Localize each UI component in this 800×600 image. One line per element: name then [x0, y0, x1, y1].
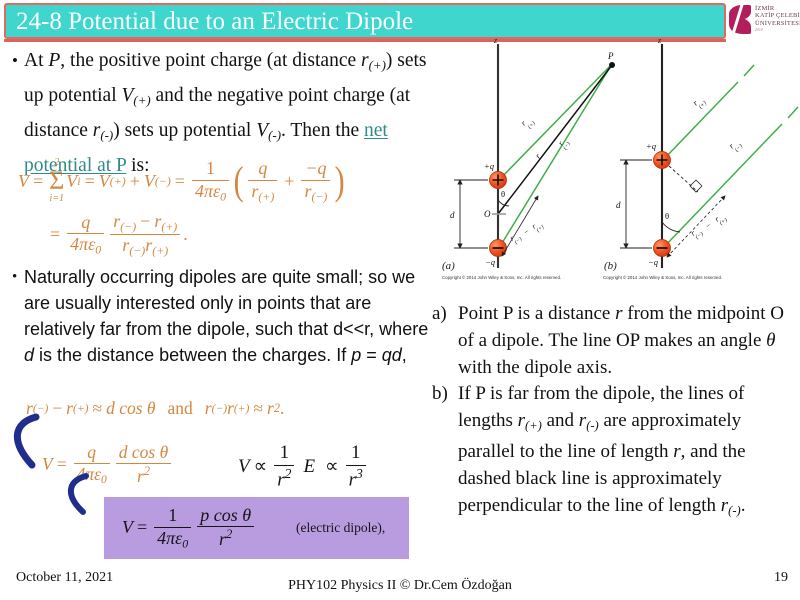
- prop-den-b: r3: [346, 467, 366, 491]
- svg-text:z: z: [657, 36, 662, 45]
- list-item-marker-a: a): [432, 301, 458, 381]
- eq2-f1-num: q: [78, 213, 93, 232]
- eq4-f2-num: d cos θ: [116, 443, 171, 462]
- eq1-equals-3: =: [171, 171, 189, 192]
- dip-f1-den: 4πε0: [154, 529, 191, 550]
- eq4-f1-den-sub: 0: [101, 474, 107, 486]
- eq3-rplus-sub: (+): [73, 403, 88, 415]
- list-item: b) If P is far from the dipole, the line…: [432, 381, 796, 524]
- eq1-f1-num: 1: [203, 159, 218, 178]
- eq3-period: .: [280, 398, 284, 419]
- ra-seg-c: with the dipole axis.: [458, 357, 612, 378]
- logo-line-3: ÜNİVERSİTESİ: [755, 20, 800, 27]
- equation-net-potential: V = 2 Σ i=1 Vi = V(+) + V(−) = 1 4πε0 ( …: [18, 158, 438, 204]
- b2-var-p: p: [351, 345, 361, 365]
- eq1-sigma-glyph: Σ: [49, 168, 64, 194]
- eq1-sigma-lower: i=1: [49, 194, 64, 204]
- logo-text-block: İZMİR KATİP ÇELEBİ ÜNİVERSİTESİ 2010: [755, 5, 800, 35]
- eq1-fraction-qrplus: q r(+): [248, 159, 277, 203]
- eq1-paren-close: ): [335, 167, 345, 196]
- eq4-f2-den-text: r: [137, 466, 144, 486]
- b1-var-P: P: [48, 50, 60, 71]
- b2-seg-c: =: [361, 345, 382, 365]
- eq4-f2-den-sup: 2: [144, 464, 150, 478]
- dip-f2-den-text: r: [219, 529, 226, 549]
- svg-text:(−): (−): [733, 143, 744, 154]
- svg-text:θ: θ: [501, 189, 505, 199]
- list-item: a) Point P is a distance r from the midp…: [432, 301, 796, 381]
- footer-page-number: 19: [774, 570, 788, 586]
- figure-caption-b: (b): [604, 260, 617, 272]
- equation-proportionalities: V ∝ 1 r2 E ∝ 1 r3: [238, 443, 369, 490]
- eq1-Vminus-sub: (−): [155, 174, 171, 189]
- b1-var-V-sub: (+): [133, 94, 150, 108]
- prop-one-b: 1: [348, 443, 364, 464]
- eq2-f1-den-text: 4πε: [70, 234, 95, 254]
- b2-seg-e: ,: [402, 345, 407, 365]
- slide-title-bar: 24-8 Potential due to an Electric Dipole: [4, 3, 726, 39]
- eq2-fraction-ratio: r(−)−r(+) r(−)r(+): [110, 212, 180, 257]
- prop-symbol-1: ∝: [250, 455, 272, 478]
- svg-text:−: −: [704, 220, 713, 230]
- equation-approximations: r(−) − r(+) ≈ d cos θ and r(−)r(+) ≈ r2.: [26, 398, 284, 419]
- dip-fraction-coulomb: 1 4πε0: [154, 506, 191, 550]
- ra-seg-a: Point P is a distance: [458, 303, 615, 324]
- eq4-f2-den: r2: [134, 465, 153, 486]
- eq2-fraction-coulomb: q 4πε0: [67, 213, 104, 257]
- dipole-figure: z P +q −q O: [440, 36, 800, 281]
- b1-var-r: r: [361, 50, 369, 71]
- rb-var-rm2-sub: (-): [728, 504, 741, 518]
- b1-var-V2: V: [256, 120, 268, 141]
- b1-seg-a: At: [24, 50, 48, 71]
- eq3-approx-2: ≈: [249, 398, 267, 419]
- university-logo: İZMİR KATİP ÇELEBİ ÜNİVERSİTESİ 2010: [727, 2, 798, 37]
- rb-seg-e: .: [741, 495, 746, 516]
- eq3-rplus: r: [66, 398, 73, 419]
- eq2-f2-num: r(−)−r(+): [110, 212, 180, 233]
- eq1-paren-open: (: [234, 167, 244, 196]
- prop-r-b: r: [349, 469, 356, 490]
- eq3-r2: r: [267, 398, 274, 419]
- figure-caption-a: (a): [442, 260, 455, 272]
- eq2-f2-den: r(−)r(+): [119, 236, 171, 257]
- dip-V: V: [122, 517, 133, 538]
- rb-var-rp: r: [518, 410, 525, 431]
- eq3-approx: ≈: [88, 398, 106, 419]
- eq3-rminus2-sub: (−): [212, 403, 227, 415]
- prop-symbol-2: ∝: [321, 455, 343, 478]
- eq1-Vplus-sub: (+): [110, 174, 126, 189]
- eq1-f2-den: r(+): [248, 182, 277, 203]
- b1-var-r2-sub: (-): [100, 129, 113, 143]
- dip-fraction-pcos: p cos θ r2: [197, 506, 254, 550]
- svg-text:(+): (+): [697, 100, 708, 111]
- svg-text:−q: −q: [485, 257, 496, 267]
- svg-text:d: d: [450, 210, 455, 220]
- svg-text:θ: θ: [665, 211, 669, 221]
- b1-seg-e: ) sets up potential: [113, 120, 256, 141]
- b1-var-r-sub: (+): [369, 59, 386, 73]
- list-item-marker-b: b): [432, 381, 458, 524]
- bullet-2-text: Naturally occurring dipoles are quite sm…: [24, 264, 432, 368]
- b1-var-V: V: [121, 85, 133, 106]
- eq3-and: and: [156, 398, 205, 419]
- prop-r-a-sup: 2: [285, 466, 292, 481]
- svg-text:(−): (−): [694, 230, 704, 240]
- eq2-f2-den-ra-sub: (−): [129, 243, 145, 257]
- eq3-rminus2: r: [205, 398, 212, 419]
- logo-tulip-icon: [727, 4, 753, 35]
- eq2-f1-den-sub: 0: [95, 243, 101, 257]
- eq1-f3-den-sub: (−): [311, 189, 327, 203]
- dip-f2-den: r2: [216, 528, 235, 549]
- dip-f2-den-sup: 2: [226, 527, 232, 541]
- footer-course-info: PHY102 Physics II © Dr.Cem Özdoğan: [0, 578, 800, 594]
- eq2-equals: =: [46, 224, 64, 245]
- copyright-notice-a: Copyright © 2014 John Wiley & Sons, Inc.…: [442, 275, 561, 280]
- prop-E: E: [297, 456, 321, 478]
- slide-canvas: 24-8 Potential due to an Electric Dipole…: [0, 0, 800, 600]
- prop-fraction-r3: 1 r3: [346, 443, 366, 490]
- eq1-f2-den-sub: (+): [258, 189, 274, 203]
- eq4-f1-num: q: [84, 443, 99, 462]
- page-title: 24-8 Potential due to an Electric Dipole: [6, 9, 413, 34]
- rb-var-rm-sub: (-): [586, 419, 599, 433]
- svg-text:(+): (+): [718, 216, 728, 226]
- bullet-marker-2: •: [8, 264, 24, 368]
- eq1-f3-den: r(−): [301, 182, 330, 203]
- svg-text:(+): (+): [535, 223, 545, 233]
- logo-line-2: KATİP ÇELEBİ: [755, 12, 800, 19]
- svg-text:P: P: [607, 51, 614, 61]
- dipole-figure-svg: z P +q −q O: [440, 36, 800, 281]
- eq3-rplus2: r: [227, 398, 234, 419]
- eq1-plus-2: +: [280, 171, 298, 192]
- prop-r-a: r: [277, 469, 284, 490]
- curved-arrow-icon-1: [6, 413, 44, 471]
- eq1-V: V: [18, 171, 29, 192]
- eq2-period: .: [183, 224, 188, 245]
- eq1-Vplus: V: [99, 171, 110, 192]
- eq3-rplus2-sub: (+): [234, 403, 249, 415]
- b2-seg-b: is the distance between the charges. If: [34, 345, 351, 365]
- svg-text:+q: +q: [484, 161, 495, 171]
- svg-text:+q: +q: [646, 141, 657, 151]
- b1-var-V2-sub: (-): [268, 129, 281, 143]
- list-item-text-a: Point P is a distance r from the midpoin…: [458, 301, 796, 381]
- svg-text:−q: −q: [648, 257, 659, 267]
- eq1-f3-num: −q: [302, 159, 329, 178]
- b1-seg-f: . Then the: [281, 120, 364, 141]
- svg-text:z: z: [493, 36, 498, 45]
- eq1-fraction-coulomb: 1 4πε0: [192, 159, 229, 203]
- prop-one-a: 1: [277, 443, 293, 464]
- eq1-equals-1: =: [29, 171, 47, 192]
- eq1-f2-num: q: [255, 159, 270, 178]
- eq2-f2-num-minus: −: [136, 211, 154, 231]
- b2-seg-a: Naturally occurring dipoles are quite sm…: [24, 267, 428, 339]
- prop-den-a: r2: [274, 467, 294, 491]
- dip-equals: =: [133, 517, 151, 538]
- rb-var-rp-sub: (+): [525, 419, 542, 433]
- b2-var-qd: qd: [382, 345, 402, 365]
- dip-f1-den-text: 4πε: [157, 528, 182, 548]
- figure-description-list: a) Point P is a distance r from the midp…: [432, 301, 796, 524]
- dip-f1-den-sub: 0: [182, 536, 188, 550]
- svg-text:O: O: [484, 209, 491, 219]
- eq1-equals-2: =: [81, 171, 99, 192]
- eq1-f1-den: 4πε0: [192, 182, 229, 203]
- dipole-equation-label: (electric dipole),: [296, 520, 385, 536]
- equation-net-potential-simplified: = q 4πε0 r(−)−r(+) r(−)r(+) .: [46, 212, 188, 257]
- eq1-fraction-negqrminus: −q r(−): [301, 159, 330, 203]
- eq1-f1-den-sub: 0: [220, 189, 226, 203]
- logo-line-1: İZMİR: [755, 5, 800, 12]
- figure-panel-a: z P +q −q O: [450, 36, 615, 268]
- bullet-item-2: • Naturally occurring dipoles are quite …: [8, 264, 432, 368]
- eq2-f2-den-rb-sub: (+): [152, 243, 168, 257]
- equation-electric-dipole: V = 1 4πε0 p cos θ r2: [122, 506, 257, 550]
- eq2-f2-num-ra-sub: (−): [120, 219, 136, 233]
- rb-seg-b: and: [542, 410, 579, 431]
- eq1-summation: 2 Σ i=1: [49, 158, 64, 204]
- eq1-Vi: V: [66, 171, 77, 192]
- prop-V: V: [238, 456, 250, 478]
- svg-text:−: −: [522, 227, 531, 237]
- eq1-f1-den-text: 4πε: [195, 181, 220, 201]
- ra-var-theta: θ: [766, 330, 775, 351]
- b2-var-d: d: [24, 345, 34, 365]
- curved-arrow-icon-2: [62, 473, 92, 517]
- eq1-plus: +: [126, 171, 144, 192]
- svg-text:(−): (−): [513, 235, 523, 245]
- svg-text:d: d: [616, 200, 621, 210]
- eq2-f2-num-rb-sub: (+): [161, 219, 177, 233]
- rb-var-r: r: [673, 441, 680, 462]
- copyright-notice-b: Copyright © 2014 John Wiley & Sons, Inc.…: [603, 275, 722, 280]
- ra-var-r: r: [615, 303, 622, 324]
- dip-f1-num: 1: [165, 506, 180, 525]
- svg-text:(+): (+): [526, 120, 536, 131]
- logo-line-tiny: 2010: [755, 27, 800, 34]
- list-item-text-b: If P is far from the dipole, the lines o…: [458, 381, 796, 524]
- eq4-fraction-dcos: d cos θ r2: [116, 443, 171, 486]
- eq3-dcostheta: d cos θ: [106, 398, 155, 419]
- svg-text:r: r: [533, 151, 543, 160]
- b1-seg-b: , the positive point charge (at distance: [60, 50, 361, 71]
- eq2-f1-den: 4πε0: [67, 235, 104, 256]
- prop-r-b-sup: 3: [356, 466, 363, 481]
- figure-panel-b: z +q −q d θ: [616, 36, 798, 268]
- eq3-minus: −: [48, 398, 66, 419]
- prop-fraction-r2: 1 r2: [274, 443, 294, 490]
- eq1-Vminus: V: [144, 171, 155, 192]
- dip-f2-num: p cos θ: [197, 506, 254, 525]
